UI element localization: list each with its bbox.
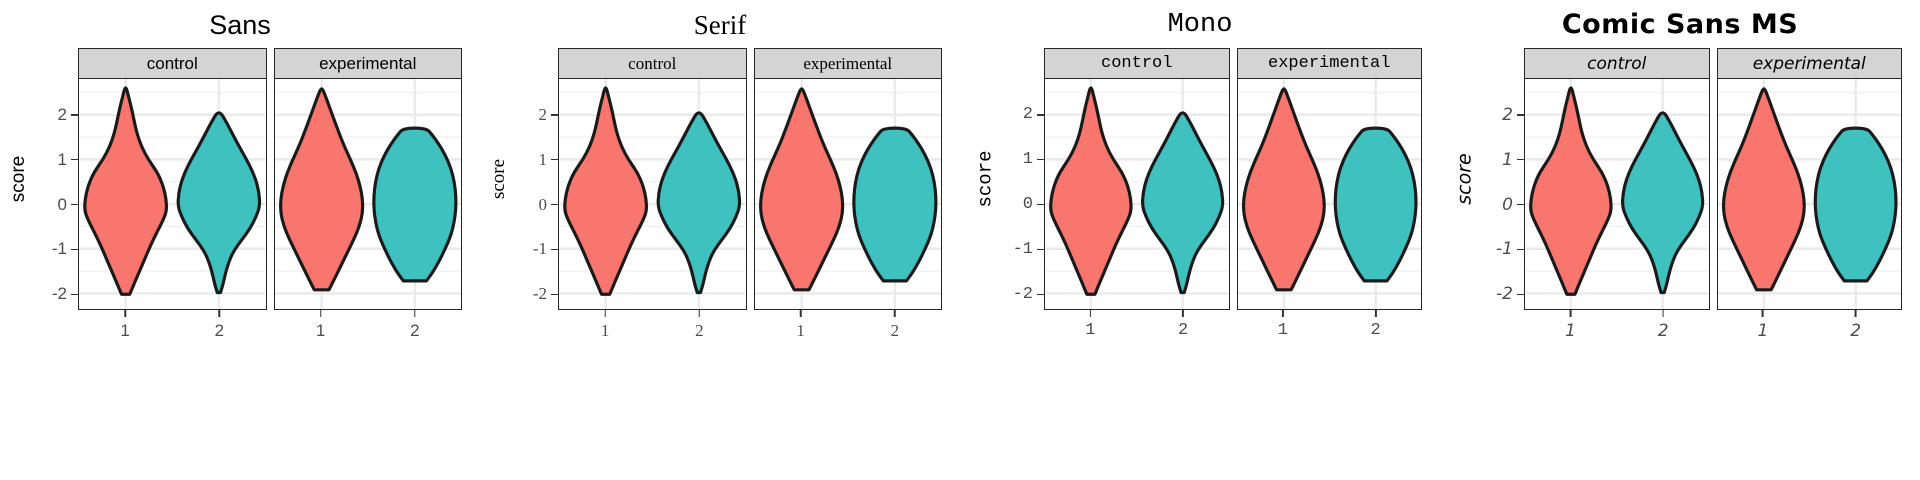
y-tick--2: -2	[533, 286, 558, 302]
x-axis-experimental: 1 2	[754, 310, 943, 350]
subfigure-sans: Sans score 2 1 0	[0, 0, 480, 400]
x-tick-2: 2	[891, 310, 900, 341]
y-tick-label: 0	[58, 195, 67, 215]
plot-area-experimental	[1717, 79, 1903, 310]
x-tick-mark	[800, 310, 802, 317]
y-tick--2: -2	[1496, 286, 1524, 302]
x-tick-mark	[219, 310, 221, 317]
y-tick-label: 1	[539, 150, 548, 170]
y-axis: 2 1 0 -1	[998, 79, 1044, 310]
x-tick-mark	[1570, 310, 1572, 317]
y-tick-mark	[1517, 114, 1524, 116]
x-axis-control: 1 2	[1524, 310, 1710, 350]
y-tick-mark	[1517, 159, 1524, 161]
y-tick-label: 2	[58, 105, 67, 125]
facet-strip-label: experimental	[274, 48, 463, 79]
x-tick-label: 2	[1371, 321, 1381, 340]
y-tick-1: 1	[539, 152, 559, 168]
y-tick-label: -1	[1496, 239, 1513, 259]
x-tick-label: 1	[316, 321, 325, 341]
facet-panel-experimental: experimental	[754, 48, 943, 310]
plot-area-experimental	[754, 79, 943, 310]
subfigure-title: Serif	[480, 8, 960, 42]
y-tick--1: -1	[533, 241, 558, 257]
plot-region: score 2 1 0 -1	[960, 48, 1440, 348]
x-tick-1: 1	[1565, 310, 1576, 341]
y-axis-label: score	[484, 48, 514, 310]
subfigure-mono: Mono score 2 1 0	[960, 0, 1440, 400]
x-tick-mark	[1762, 310, 1764, 317]
x-tick-mark	[1855, 310, 1857, 317]
x-tick-label: 1	[796, 321, 805, 341]
y-tick-label: 2	[539, 105, 548, 125]
facet-panels: control experimental	[558, 48, 942, 310]
y-tick--2: -2	[1013, 286, 1044, 302]
x-tick-mark	[1662, 310, 1664, 317]
y-tick-2: 2	[1023, 107, 1044, 123]
facet-panel-control: control	[1044, 48, 1230, 310]
y-tick-1: 1	[58, 152, 78, 168]
x-axis-row: 1 2 1 2	[1044, 310, 1422, 350]
x-axis-row: 1 2 1 2	[558, 310, 942, 350]
x-tick-label: 1	[601, 321, 610, 341]
plot-area-control	[558, 79, 747, 310]
y-tick-label: 1	[58, 150, 67, 170]
y-tick-label: 0	[539, 195, 548, 215]
y-tick-mark	[1037, 294, 1044, 296]
x-tick-mark	[1375, 310, 1377, 317]
y-tick-1: 1	[1023, 152, 1044, 168]
x-tick-2: 2	[410, 310, 419, 341]
x-tick-mark	[604, 310, 606, 317]
y-tick-mark	[1037, 114, 1044, 116]
x-tick-label: 2	[410, 321, 419, 341]
facet-panels: control experimental	[1524, 48, 1902, 310]
y-tick-label: -1	[52, 239, 67, 259]
y-tick-0: 0	[1502, 197, 1524, 213]
x-tick-mark	[699, 310, 701, 317]
subfigure-title: Mono	[960, 8, 1440, 42]
facet-strip-label: experimental	[1717, 48, 1903, 79]
x-tick-2: 2	[1850, 310, 1861, 341]
x-tick-1: 1	[1278, 310, 1288, 340]
y-tick-mark	[551, 204, 558, 206]
violin-figure-grid: Sans score 2 1 0	[0, 0, 1920, 480]
y-tick-mark	[71, 159, 78, 161]
x-axis-experimental: 1 2	[274, 310, 463, 350]
plot-area-experimental	[274, 79, 463, 310]
y-tick-mark	[71, 114, 78, 116]
y-axis-label: score	[970, 48, 1000, 310]
x-tick-label: 1	[1278, 321, 1288, 340]
x-tick-1: 1	[120, 310, 129, 341]
y-tick-0: 0	[539, 197, 559, 213]
x-tick-1: 1	[601, 310, 610, 341]
plot-region: score 2 1 0 -1	[480, 48, 960, 348]
x-axis-control: 1 2	[558, 310, 747, 350]
y-tick-mark	[551, 114, 558, 116]
y-tick-mark	[71, 294, 78, 296]
facet-strip-label: experimental	[754, 48, 943, 79]
subfigure-title: Sans	[0, 8, 480, 42]
y-tick-label: -2	[52, 284, 67, 304]
y-tick-mark	[1517, 204, 1524, 206]
y-tick-mark	[71, 249, 78, 251]
y-axis: 2 1 0 -1	[32, 79, 78, 310]
y-tick--1: -1	[1013, 241, 1044, 257]
y-tick-1: 1	[1502, 152, 1524, 168]
x-tick-label: 2	[1178, 321, 1188, 340]
x-tick-mark	[894, 310, 896, 317]
y-tick-mark	[1517, 294, 1524, 296]
plot-area-control	[78, 79, 267, 310]
subfigure-serif: Serif score 2 1 0	[480, 0, 960, 400]
x-tick-mark	[124, 310, 126, 317]
y-axis-label: score	[4, 48, 34, 310]
x-tick-label: 1	[1565, 321, 1576, 341]
x-axis-experimental: 1 2	[1237, 310, 1423, 350]
y-tick-label: -2	[1013, 285, 1033, 304]
facet-panel-experimental: experimental	[1237, 48, 1423, 310]
facet-panels: control experimental	[1044, 48, 1422, 310]
x-axis-experimental: 1 2	[1717, 310, 1903, 350]
facet-panel-control: control	[558, 48, 747, 310]
facet-strip-label: control	[558, 48, 747, 79]
y-tick-mark	[551, 159, 558, 161]
x-axis-control: 1 2	[1044, 310, 1230, 350]
y-tick-label: 2	[1023, 105, 1033, 124]
y-tick-2: 2	[1502, 107, 1524, 123]
y-tick-label: 1	[1502, 150, 1513, 170]
y-tick--1: -1	[1496, 241, 1524, 257]
x-tick-mark	[1090, 310, 1092, 317]
x-tick-label: 2	[695, 321, 704, 341]
x-tick-1: 1	[796, 310, 805, 341]
x-tick-1: 1	[1085, 310, 1095, 340]
x-axis-control: 1 2	[78, 310, 267, 350]
y-tick--2: -2	[52, 286, 78, 302]
y-tick-mark	[1517, 249, 1524, 251]
x-tick-label: 1	[120, 321, 129, 341]
y-tick-2: 2	[58, 107, 78, 123]
x-axis-row: 1 2 1 2	[78, 310, 462, 350]
x-tick-label: 1	[1085, 321, 1095, 340]
x-tick-2: 2	[695, 310, 704, 341]
x-tick-mark	[414, 310, 416, 317]
y-tick-label: 1	[1023, 150, 1033, 169]
y-tick-label: -2	[1496, 284, 1513, 304]
facet-panel-control: control	[1524, 48, 1710, 310]
y-tick-mark	[1037, 204, 1044, 206]
y-axis-label: score	[1450, 48, 1480, 310]
facet-strip-label: experimental	[1237, 48, 1423, 79]
x-tick-label: 2	[891, 321, 900, 341]
x-tick-mark	[1282, 310, 1284, 317]
x-tick-label: 1	[1757, 321, 1768, 341]
y-tick-label: -1	[533, 239, 547, 259]
x-tick-label: 2	[1850, 321, 1861, 341]
y-tick-mark	[1037, 249, 1044, 251]
subfigure-title: Comic Sans MS	[1440, 8, 1920, 42]
y-tick-mark	[551, 294, 558, 296]
y-tick-label: 2	[1502, 105, 1513, 125]
y-tick--1: -1	[52, 241, 78, 257]
plot-area-control	[1044, 79, 1230, 310]
x-tick-2: 2	[1178, 310, 1188, 340]
facet-strip-label: control	[1524, 48, 1710, 79]
plot-region: score 2 1 0 -1	[1440, 48, 1920, 348]
x-tick-2: 2	[1658, 310, 1669, 341]
y-tick-label: -2	[533, 284, 547, 304]
x-tick-2: 2	[215, 310, 224, 341]
facet-panel-control: control	[78, 48, 267, 310]
facet-panel-experimental: experimental	[1717, 48, 1903, 310]
y-tick-mark	[551, 249, 558, 251]
y-tick-label: -1	[1013, 240, 1033, 259]
x-tick-2: 2	[1371, 310, 1381, 340]
y-tick-0: 0	[1023, 197, 1044, 213]
y-tick-mark	[71, 204, 78, 206]
y-tick-label: 0	[1502, 195, 1513, 215]
x-tick-mark	[320, 310, 322, 317]
x-tick-label: 2	[1658, 321, 1669, 341]
y-tick-label: 0	[1023, 195, 1033, 214]
facet-panel-experimental: experimental	[274, 48, 463, 310]
plot-area-control	[1524, 79, 1710, 310]
y-tick-mark	[1037, 159, 1044, 161]
facet-panels: control experimental	[78, 48, 462, 310]
y-tick-0: 0	[58, 197, 78, 213]
subfigure-comic: Comic Sans MS score 2 1 0	[1440, 0, 1920, 400]
y-axis: 2 1 0 -1	[1478, 79, 1524, 310]
y-axis: 2 1 0 -1	[512, 79, 558, 310]
plot-region: score 2 1 0 -1	[0, 48, 480, 348]
x-tick-label: 2	[215, 321, 224, 341]
x-tick-1: 1	[1757, 310, 1768, 341]
y-tick-2: 2	[539, 107, 559, 123]
facet-strip-label: control	[78, 48, 267, 79]
x-axis-row: 1 2 1 2	[1524, 310, 1902, 350]
plot-area-experimental	[1237, 79, 1423, 310]
x-tick-1: 1	[316, 310, 325, 341]
x-tick-mark	[1182, 310, 1184, 317]
facet-strip-label: control	[1044, 48, 1230, 79]
